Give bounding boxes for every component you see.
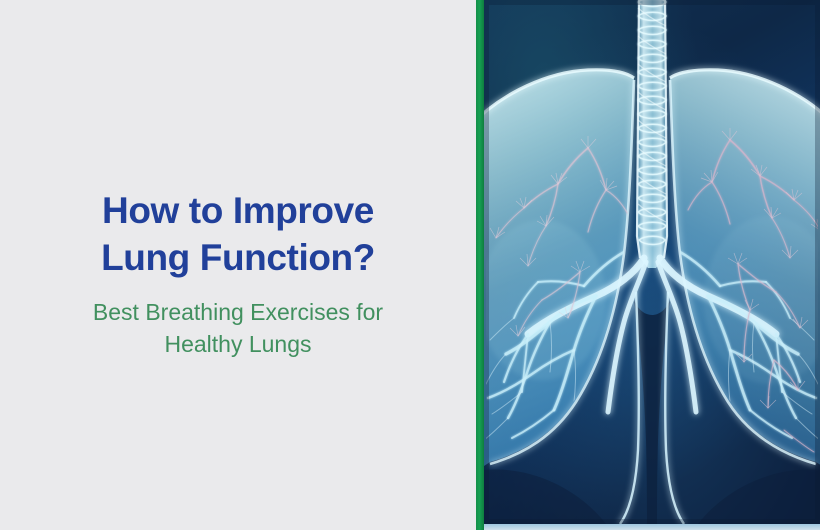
page-subtitle: Best Breathing Exercises for Healthy Lun…	[23, 296, 453, 361]
subhead-line-1: Best Breathing Exercises for	[23, 296, 453, 329]
text-panel: How to Improve Lung Function? Best Breat…	[0, 0, 476, 530]
headline-line-2: Lung Function?	[23, 234, 453, 281]
green-accent-bar	[476, 0, 484, 530]
text-block: How to Improve Lung Function? Best Breat…	[23, 187, 453, 361]
image-bottom-strip	[484, 524, 820, 530]
lung-illustration	[484, 0, 820, 524]
subhead-line-2: Healthy Lungs	[23, 328, 453, 361]
headline-line-1: How to Improve	[23, 187, 453, 234]
trachea	[637, 0, 667, 268]
page-title: How to Improve Lung Function?	[23, 187, 453, 282]
lung-function-banner: How to Improve Lung Function? Best Breat…	[0, 0, 820, 530]
lungs-xray-graphic	[484, 0, 820, 524]
